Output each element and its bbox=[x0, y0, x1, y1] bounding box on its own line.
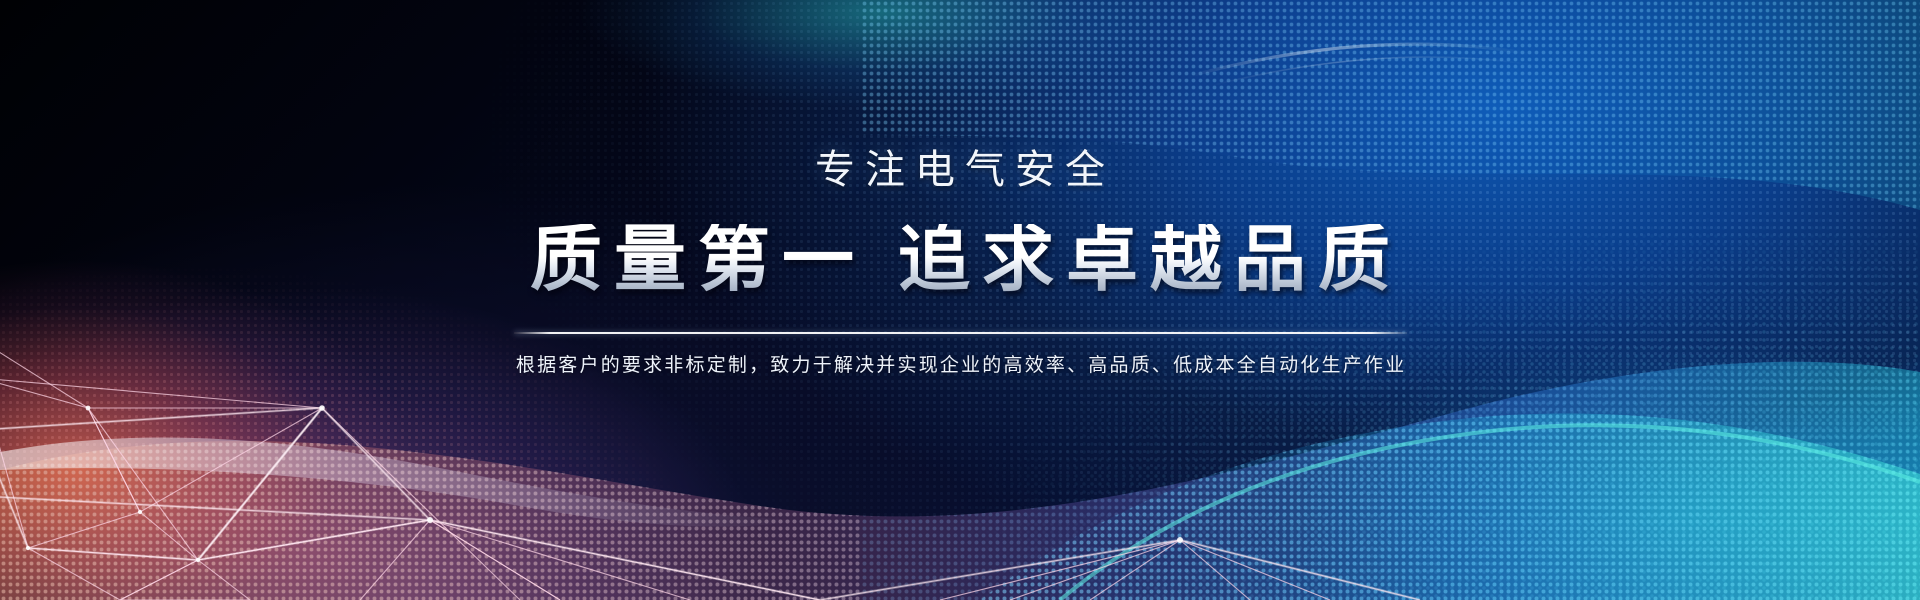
banner-headline: 质量第一 追求卓越品质 bbox=[518, 224, 1402, 296]
headline-divider bbox=[514, 332, 1407, 334]
banner-tagline: 专注电气安全 bbox=[805, 150, 1115, 190]
banner-subtitle: 根据客户的要求非标定制，致力于解决并实现企业的高效率、高品质、低成本全自动化生产… bbox=[514, 356, 1407, 375]
hero-banner: 专注电气安全 质量第一 追求卓越品质 根据客户的要求非标定制，致力于解决并实现企… bbox=[0, 0, 1920, 600]
banner-content: 专注电气安全 质量第一 追求卓越品质 根据客户的要求非标定制，致力于解决并实现企… bbox=[0, 0, 1920, 600]
